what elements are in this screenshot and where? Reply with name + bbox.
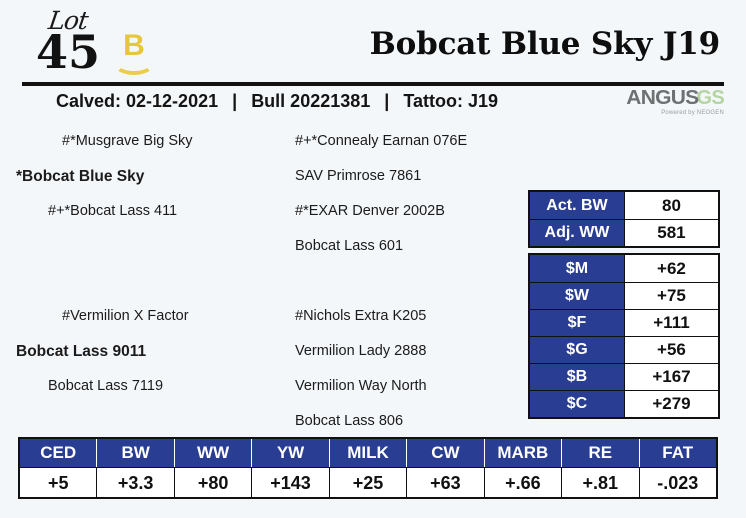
pedigree-entry: *Bobcat Blue Sky	[14, 159, 294, 194]
epd-header-row: CEDBWWWYWMILKCWMARBREFAT	[20, 439, 716, 467]
stat-value: 80	[625, 192, 718, 219]
stat-label: $G	[530, 337, 625, 363]
stat-label: $B	[530, 364, 625, 390]
info-separator-2: |	[375, 91, 398, 111]
epd-value-cell: +3.3	[97, 467, 174, 497]
stat-label: $F	[530, 310, 625, 336]
epd-value-row: +5+3.3+80+143+25+63+.66+.81-.023	[20, 467, 716, 497]
epd-header-cell: FAT	[640, 439, 716, 467]
pedigree-entry: #+*Connealy Earnan 076E	[293, 124, 528, 159]
lot-script-label: Lot	[24, 8, 112, 33]
epd-header-cell: CED	[20, 439, 97, 467]
stat-row: $G+56	[530, 336, 718, 363]
lot-header: Lot 45 B Bobcat Blue Sky J19	[0, 0, 746, 82]
stat-value: +56	[625, 337, 718, 363]
page-title: Bobcat Blue Sky J19	[370, 26, 720, 62]
epd-value-cell: +25	[330, 467, 407, 497]
epd-header-cell: RE	[562, 439, 639, 467]
stat-row: Act. BW80	[530, 192, 718, 219]
stat-row: $F+111	[530, 309, 718, 336]
stat-value: +167	[625, 364, 718, 390]
stat-label: $W	[530, 283, 625, 309]
stat-label: $C	[530, 391, 625, 417]
epd-header-cell: CW	[407, 439, 484, 467]
logo-angus-text: ANGUS	[626, 88, 698, 108]
pedigree-entry: #Nichols Extra K205	[293, 299, 528, 334]
epd-value-cell: +.81	[562, 467, 639, 497]
pedigree-entry: Bobcat Lass 7119	[14, 369, 294, 404]
stat-label: Act. BW	[530, 192, 625, 219]
stat-value: +279	[625, 391, 718, 417]
lot-number: 45	[26, 31, 110, 73]
stat-row: $M+62	[530, 255, 718, 282]
stat-value: +111	[625, 310, 718, 336]
stat-value: +75	[625, 283, 718, 309]
pedigree-spacer	[14, 264, 294, 299]
pedigree-entry: Bobcat Lass 601	[293, 229, 528, 264]
epd-header-cell: MARB	[485, 439, 562, 467]
stat-row: $B+167	[530, 363, 718, 390]
tattoo-number: Tattoo: J19	[403, 91, 498, 111]
pedigree-entry: #+*Bobcat Lass 411	[14, 194, 294, 229]
b-circle-badge-icon: B	[110, 33, 158, 77]
epd-value-cell: +.66	[485, 467, 562, 497]
lot-identifier: Lot 45	[26, 8, 110, 73]
pedigree-entry: #*Musgrave Big Sky	[14, 124, 294, 159]
epd-value-cell: +63	[407, 467, 484, 497]
logo-gs-text: GS	[697, 88, 725, 108]
stat-value: +62	[625, 255, 718, 282]
stat-label: $M	[530, 255, 625, 282]
angus-gs-logo: ANGUSGS Powered by NEOGEN	[628, 88, 724, 116]
pedigree-entry: Bobcat Lass 9011	[14, 334, 294, 369]
pedigree-entry: Bobcat Lass 806	[293, 404, 528, 439]
epd-value-cell: +80	[175, 467, 252, 497]
pedigree-column-1: #*Musgrave Big Sky*Bobcat Blue Sky#+*Bob…	[14, 124, 294, 404]
epd-value-cell: +5	[20, 467, 97, 497]
pedigree-spacer	[14, 229, 294, 264]
animal-info-line: Calved: 02-12-2021 | Bull 20221381 | Tat…	[0, 88, 746, 122]
stat-value: 581	[625, 220, 718, 246]
epd-table: CEDBWWWYWMILKCWMARBREFAT +5+3.3+80+143+2…	[18, 437, 718, 499]
epd-header-cell: MILK	[330, 439, 407, 467]
epd-header-cell: BW	[97, 439, 174, 467]
stat-row: Adj. WW581	[530, 219, 718, 246]
dollar-index-table: $M+62$W+75$F+111$G+56$B+167$C+279	[528, 253, 720, 419]
registration-number: Bull 20221381	[251, 91, 370, 111]
pedigree-entry: SAV Primrose 7861	[293, 159, 528, 194]
animal-info-text: Calved: 02-12-2021 | Bull 20221381 | Tat…	[56, 91, 498, 112]
stat-row: $W+75	[530, 282, 718, 309]
stats-panel: Act. BW80Adj. WW581 $M+62$W+75$F+111$G+5…	[528, 190, 720, 419]
epd-value-cell: -.023	[640, 467, 716, 497]
epd-value-cell: +143	[252, 467, 329, 497]
stat-row: $C+279	[530, 390, 718, 417]
epd-header-cell: YW	[252, 439, 329, 467]
pedigree-entry: #Vermilion X Factor	[14, 299, 294, 334]
info-separator-1: |	[223, 91, 246, 111]
pedigree-column-2: #+*Connealy Earnan 076ESAV Primrose 7861…	[293, 124, 528, 439]
pedigree-entry: Vermilion Way North	[293, 369, 528, 404]
pedigree-spacer	[293, 264, 528, 299]
badge-arc-icon	[114, 55, 154, 75]
weights-table: Act. BW80Adj. WW581	[528, 190, 720, 248]
calved-date: Calved: 02-12-2021	[56, 91, 218, 111]
logo-powered-by: Powered by NEOGEN	[628, 110, 724, 116]
pedigree-entry: #*EXAR Denver 2002B	[293, 194, 528, 229]
pedigree-entry: Vermilion Lady 2888	[293, 334, 528, 369]
stat-label: Adj. WW	[530, 220, 625, 246]
header-divider	[22, 82, 724, 86]
epd-header-cell: WW	[175, 439, 252, 467]
